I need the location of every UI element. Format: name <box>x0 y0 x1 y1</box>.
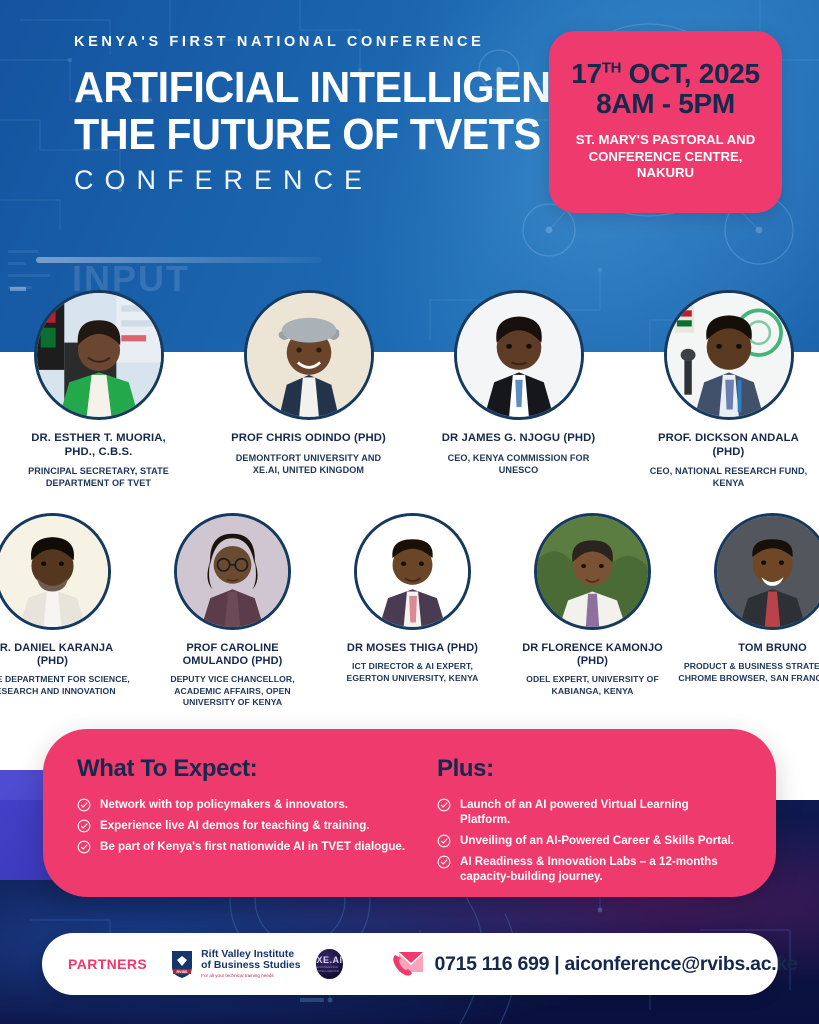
speaker-name: DR MOSES THIGA (PHD) <box>347 642 478 655</box>
rvibs-text: Rift Valley Institute of Business Studie… <box>201 950 300 979</box>
list-item: Unveiling of an AI-Powered Career & Skil… <box>437 833 742 848</box>
check-circle-icon <box>77 798 91 812</box>
conference-poster: INPUT KENYA'S FIRST NATIONAL CONFERENCE … <box>0 0 819 1024</box>
avatar <box>0 513 111 630</box>
portrait-caroline-omulando-icon <box>177 516 288 627</box>
venue-line-2: CONFERENCE CENTRE, NAKURU <box>559 149 772 183</box>
what-to-expect-column: What To Expect: Network with top policym… <box>77 755 419 897</box>
phone-envelope-icon <box>391 949 425 979</box>
date-text: 17TH OCT, 2025 <box>571 58 760 90</box>
list-item-text: Be part of Kenya's first nationwide AI i… <box>100 839 405 854</box>
subtitle-text: CONFERENCE <box>74 165 544 196</box>
page-title: ARTIFICIAL INTELLIGENCE & THE FUTURE OF … <box>74 66 516 156</box>
speaker-card: PROF CHRIS ODINDO (PHD) DEMONTFORT UNIVE… <box>229 290 389 489</box>
speakers-row-1: DR. ESTHER T. MUORIA, PHD., C.B.S. PRINC… <box>0 290 819 489</box>
speaker-card: TOM BRUNO PRODUCT & BUSINESS STRATEGY LE… <box>700 513 819 708</box>
speaker-name: PROF CAROLINE OMULANDO (PHD) <box>160 642 306 668</box>
avatar <box>174 513 291 630</box>
date-day-suffix: TH <box>602 59 621 76</box>
footer-bar: PARTNERS RVIBS Rift Valley Institute of … <box>42 933 778 995</box>
speaker-role: STATE DEPARTMENT FOR SCIENCE, RESEARCH A… <box>0 674 138 697</box>
avatar <box>534 513 651 630</box>
portrait-chris-odindo-icon <box>247 293 371 417</box>
speaker-role: PRODUCT & BUSINESS STRATEGY LEAD, CHROME… <box>678 661 819 684</box>
avatar <box>244 290 374 420</box>
rvibs-crest-icon: RVIBS <box>169 949 195 979</box>
plus-heading: Plus: <box>437 755 742 783</box>
title-line-2: THE FUTURE OF TVETS <box>74 113 516 157</box>
info-panel: What To Expect: Network with top policym… <box>43 729 776 897</box>
speaker-role: DEPUTY VICE CHANCELLOR, ACADEMIC AFFAIRS… <box>150 674 315 708</box>
portrait-james-njogu-icon <box>457 293 581 417</box>
partner-logo-xeai[interactable]: XE.AI ENGINEERING INTELLIGENCE <box>316 949 342 979</box>
speaker-card: DR MOSES THIGA (PHD) ICT DIRECTOR & AI E… <box>340 513 486 708</box>
avatar <box>664 290 794 420</box>
speaker-name: TOM BRUNO <box>738 642 807 655</box>
speaker-name: DR. ESTHER T. MUORIA, PHD., C.B.S. <box>19 432 179 459</box>
rvibs-line-2: of Business Studies <box>201 961 300 972</box>
xeai-name: XE.AI <box>316 955 342 965</box>
speaker-role: ICT DIRECTOR & AI EXPERT, EGERTON UNIVER… <box>330 661 495 684</box>
portrait-daniel-karanja-icon <box>0 516 108 627</box>
title-block: KENYA'S FIRST NATIONAL CONFERENCE ARTIFI… <box>74 34 544 196</box>
speaker-name: DR FLORENCE KAMONJO (PHD) <box>520 642 666 668</box>
speaker-role: ODEL EXPERT, UNIVERSITY OF KABIANGA, KEN… <box>510 674 675 697</box>
venue-line-1: ST. MARY'S PASTORAL AND <box>559 132 772 149</box>
list-item-text: Network with top policymakers & innovato… <box>100 797 348 812</box>
partner-logo-rvibs[interactable]: RVIBS Rift Valley Institute of Business … <box>169 949 300 979</box>
check-circle-icon <box>437 834 451 848</box>
speakers-row-2: DR. DANIEL KARANJA (PHD) STATE DEPARTMEN… <box>0 513 819 708</box>
portrait-moses-thiga-icon <box>357 516 468 627</box>
portrait-tom-bruno-icon <box>717 516 819 627</box>
avatar <box>454 290 584 420</box>
what-to-expect-list: Network with top policymakers & innovato… <box>77 797 419 854</box>
plus-list: Launch of an AI powered Virtual Learning… <box>437 797 742 884</box>
svg-text:RVIBS: RVIBS <box>177 970 189 974</box>
what-to-expect-heading: What To Expect: <box>77 755 419 783</box>
plus-column: Plus: Launch of an AI powered Virtual Le… <box>437 755 742 897</box>
kicker-text: KENYA'S FIRST NATIONAL CONFERENCE <box>74 34 544 50</box>
speaker-card: DR. ESTHER T. MUORIA, PHD., C.B.S. PRINC… <box>19 290 179 489</box>
list-item-text: AI Readiness & Innovation Labs – a 12-mo… <box>460 854 742 884</box>
venue-text: ST. MARY'S PASTORAL AND CONFERENCE CENTR… <box>559 132 772 183</box>
list-item-text: Experience live AI demos for teaching & … <box>100 818 370 833</box>
partners-label: PARTNERS <box>68 956 147 972</box>
xeai-subtitle: ENGINEERING INTELLIGENCE <box>316 965 342 973</box>
rvibs-line-1: Rift Valley Institute <box>201 950 300 961</box>
date-day: 17 <box>571 58 602 89</box>
speaker-role: PRINCIPAL SECRETARY, STATE DEPARTMENT OF… <box>19 465 179 489</box>
list-item: AI Readiness & Innovation Labs – a 12-mo… <box>437 854 742 884</box>
portrait-esther-muoria-icon <box>37 293 161 417</box>
avatar <box>714 513 819 630</box>
portrait-dickson-andala-icon <box>667 293 791 417</box>
portrait-florence-kamonjo-icon <box>537 516 648 627</box>
speaker-role: CEO, KENYA COMMISSION FOR UNESCO <box>439 452 599 476</box>
speakers-section: DR. ESTHER T. MUORIA, PHD., C.B.S. PRINC… <box>0 290 819 709</box>
time-text: 8AM - 5PM <box>596 88 735 120</box>
list-item-text: Launch of an AI powered Virtual Learning… <box>460 797 742 827</box>
check-circle-icon <box>77 819 91 833</box>
date-month-year: OCT, 2025 <box>621 58 760 89</box>
date-venue-badge: 17TH OCT, 2025 8AM - 5PM ST. MARY'S PAST… <box>549 31 782 213</box>
contact-text: 0715 116 699 | aiconference@rvibs.ac.ke <box>435 953 798 976</box>
speaker-card: PROF CAROLINE OMULANDO (PHD) DEPUTY VICE… <box>160 513 306 708</box>
contact-block[interactable]: 0715 116 699 | aiconference@rvibs.ac.ke <box>391 949 798 979</box>
speaker-role: CEO, NATIONAL RESEARCH FUND, KENYA <box>649 465 809 489</box>
speaker-role: DEMONTFORT UNIVERSITY AND XE.AI, UNITED … <box>229 452 389 476</box>
check-circle-icon <box>437 798 451 812</box>
speaker-name: DR JAMES G. NJOGU (PHD) <box>442 432 596 446</box>
list-item: Network with top policymakers & innovato… <box>77 797 419 812</box>
list-item: Experience live AI demos for teaching & … <box>77 818 419 833</box>
speaker-name: PROF CHRIS ODINDO (PHD) <box>231 432 386 446</box>
speaker-card: DR. DANIEL KARANJA (PHD) STATE DEPARTMEN… <box>0 513 126 708</box>
list-item: Be part of Kenya's first nationwide AI i… <box>77 839 419 854</box>
rvibs-tagline: For all your technical training needs <box>201 974 300 979</box>
speaker-name: PROF. DICKSON ANDALA (PHD) <box>649 432 809 459</box>
avatar <box>34 290 164 420</box>
check-circle-icon <box>77 840 91 854</box>
check-circle-icon <box>437 855 451 869</box>
speaker-name: DR. DANIEL KARANJA (PHD) <box>0 642 126 668</box>
avatar <box>354 513 471 630</box>
list-item: Launch of an AI powered Virtual Learning… <box>437 797 742 827</box>
speaker-card: DR FLORENCE KAMONJO (PHD) ODEL EXPERT, U… <box>520 513 666 708</box>
speaker-card: PROF. DICKSON ANDALA (PHD) CEO, NATIONAL… <box>649 290 809 489</box>
list-item-text: Unveiling of an AI-Powered Career & Skil… <box>460 833 734 848</box>
speaker-card: DR JAMES G. NJOGU (PHD) CEO, KENYA COMMI… <box>439 290 599 489</box>
